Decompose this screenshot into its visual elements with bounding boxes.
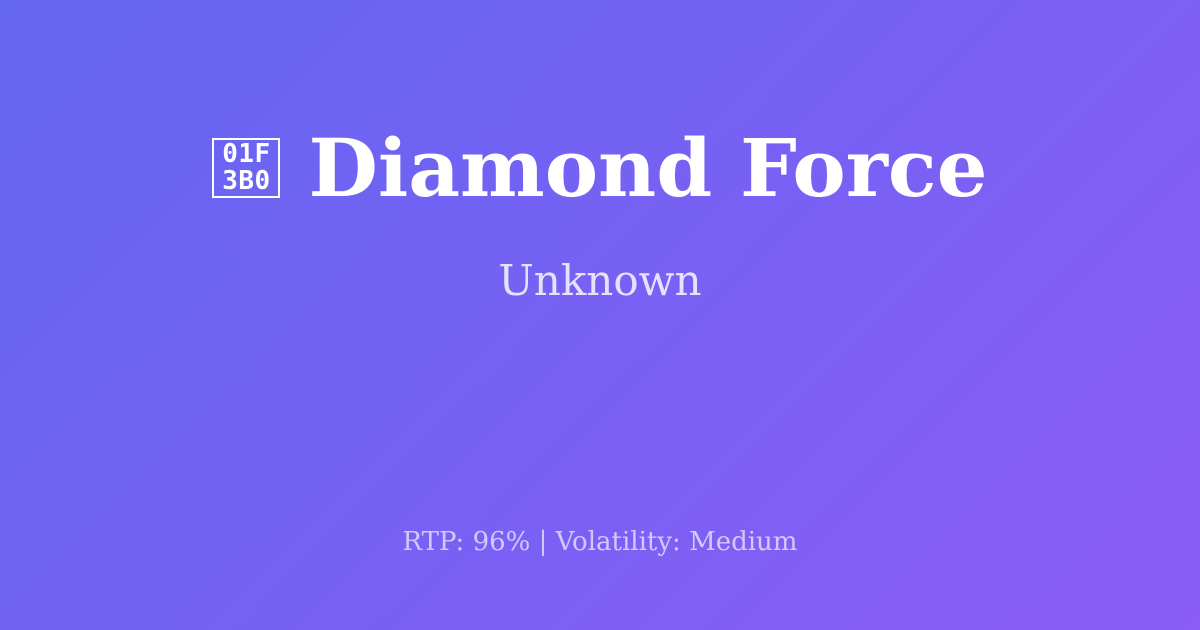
game-title: Diamond Force [308, 128, 987, 208]
slot-machine-icon: 01F 3B0 [212, 138, 280, 198]
slot-machine-icon-codepoint-top: 01F [222, 141, 270, 168]
game-provider-subtitle: Unknown [498, 260, 701, 302]
title-line: 01F 3B0 Diamond Force [212, 128, 987, 208]
title-block: 01F 3B0 Diamond Force Unknown [0, 0, 1200, 465]
slot-machine-icon-codepoint-bottom: 3B0 [222, 168, 270, 195]
open-graph-game-card: 01F 3B0 Diamond Force Unknown RTP: 96% |… [0, 0, 1200, 630]
game-stats-footer: RTP: 96% | Volatility: Medium [0, 527, 1200, 557]
